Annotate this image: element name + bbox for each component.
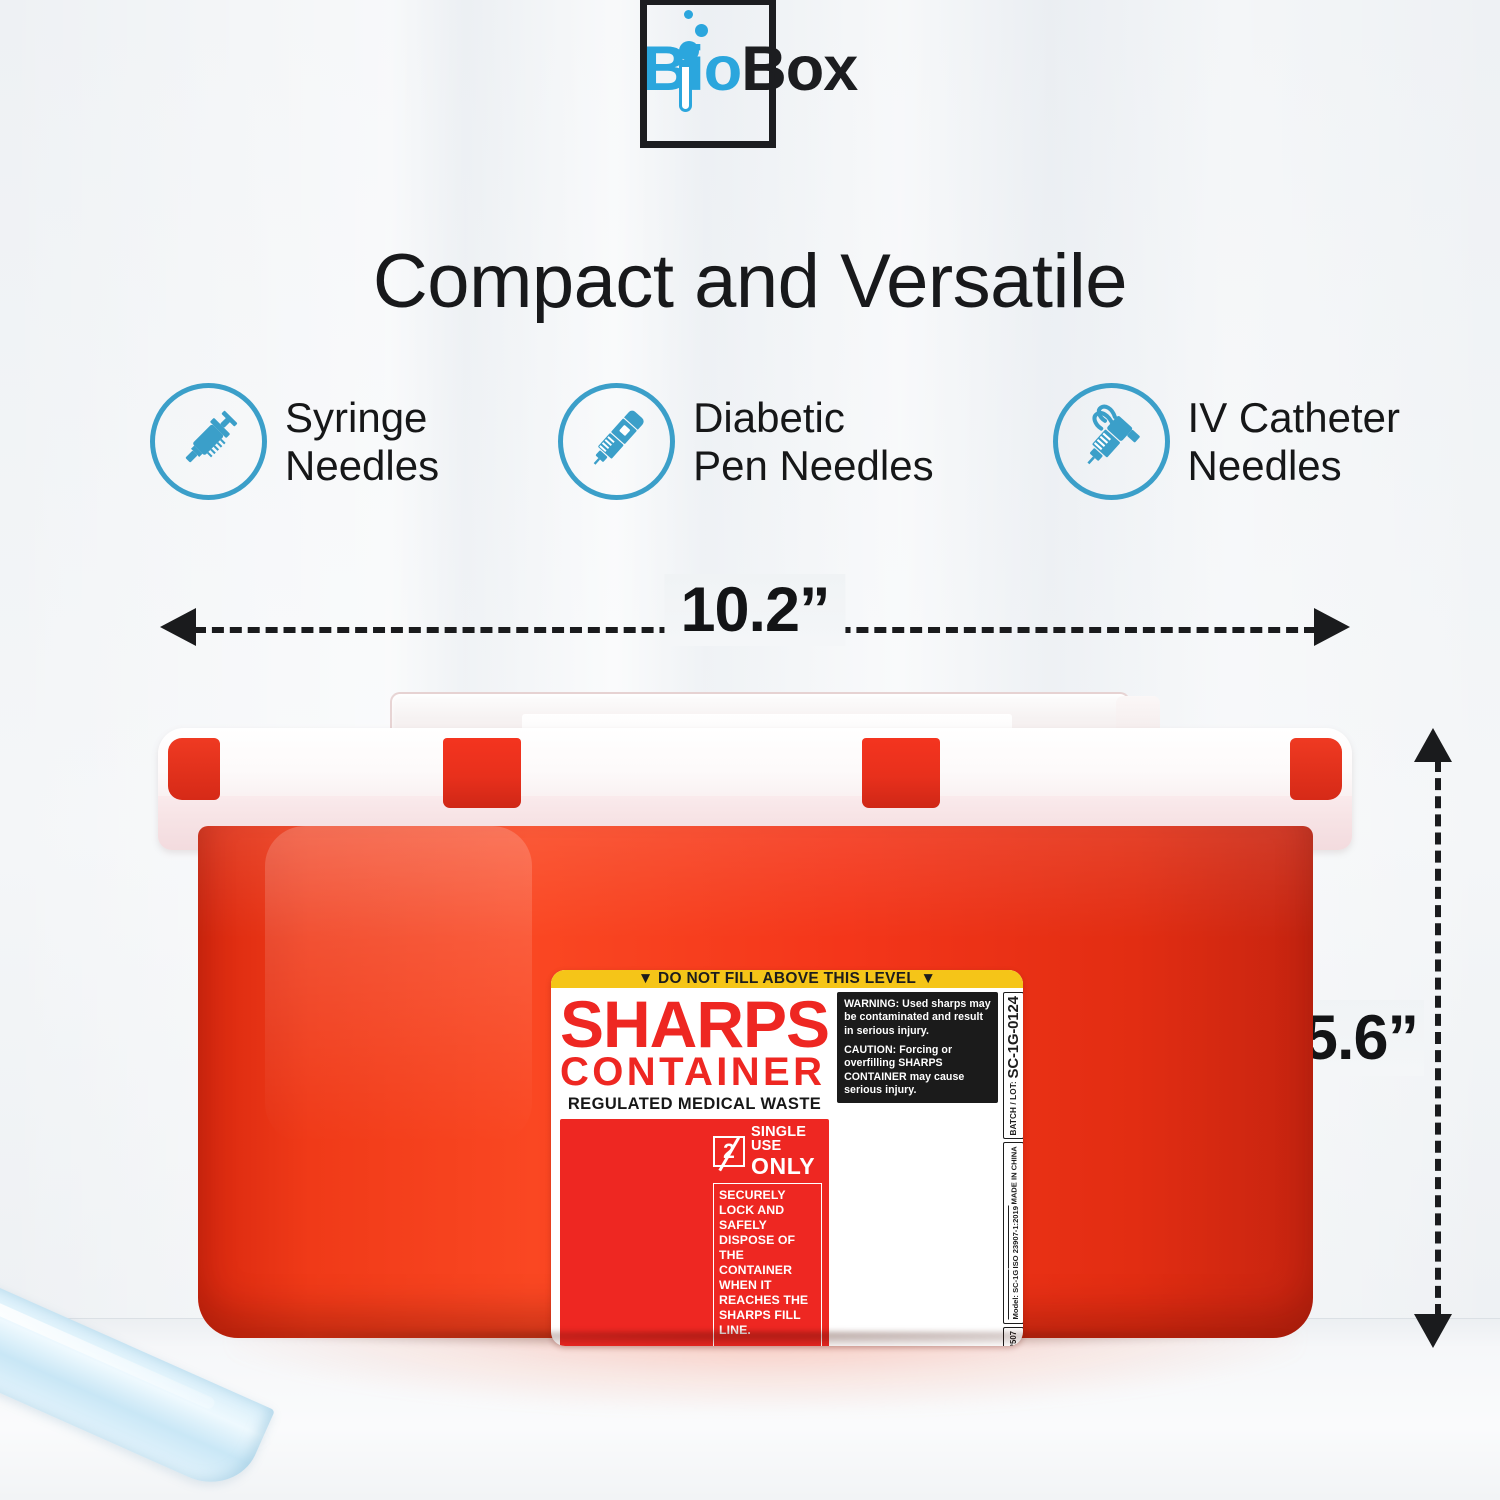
model-iso-box: Model: SC-1G ISO 23907-1:2019 MADE IN CH… <box>1003 1142 1023 1324</box>
diabetic-pen-needle-icon <box>580 402 654 481</box>
arrow-right-icon <box>1314 608 1350 646</box>
warning-caution-box: WARNING: Used sharps may be contaminated… <box>837 992 998 1103</box>
model-iso-rotated: Model: SC-1G ISO 23907-1:2019 MADE IN CH… <box>1008 1146 1020 1320</box>
feature-list: Syringe Needles <box>150 383 1400 500</box>
brand-logo: BioBox <box>0 38 1500 101</box>
logo-bubble-small <box>684 10 693 19</box>
arrow-left-icon <box>160 608 196 646</box>
lid-latch-left <box>443 738 521 808</box>
single-use-only-group: 2 SINGLE USE ONLY <box>713 1125 822 1178</box>
feature-item-syringe: Syringe Needles <box>150 383 439 500</box>
lid-latch-right <box>862 738 940 808</box>
iso-line: ISO 23907-1:2019 <box>1008 1206 1020 1268</box>
container-contact-shadow <box>210 1332 1300 1348</box>
syringe-needle-icon <box>172 402 246 481</box>
batch-lot-rotated: BATCH / LOT: SC-1G-0124 <box>1005 996 1022 1135</box>
warning-text: WARNING: Used sharps may be contaminated… <box>844 998 991 1038</box>
sharps-container-label: ▼ DO NOT FILL ABOVE THIS LEVEL ▼ SHARPS … <box>551 970 1023 1346</box>
iv-catheter-needle-icon <box>1073 401 1149 482</box>
batch-lot-caption: BATCH / LOT: <box>1009 1081 1018 1135</box>
logo-bubble-large <box>679 41 699 61</box>
biohazard-symbol-group: BIOHAZARD <box>567 1125 707 1346</box>
single-use-text: SINGLE USE ONLY <box>751 1125 822 1178</box>
sharps-container-product: ▼ DO NOT FILL ABOVE THIS LEVEL ▼ SHARPS … <box>150 686 1360 1346</box>
model-line: Model: SC-1G <box>1008 1270 1020 1320</box>
single-use-line1: SINGLE USE <box>751 1125 822 1154</box>
lid-latch-corner-right <box>1290 738 1342 800</box>
lid-latch-corner-left <box>168 738 220 800</box>
label-right-column: WARNING: Used sharps may be contaminated… <box>835 988 1003 1346</box>
logo-test-tube-icon <box>679 66 692 112</box>
label-vertical-info-column: BATCH / LOT: SC-1G-0124 Model: SC-1G ISO… <box>1003 988 1023 1346</box>
biohazard-right-column: 2 SINGLE USE ONLY SECURELY LOCK AND SAFE… <box>713 1125 822 1346</box>
body-highlight <box>265 826 533 1143</box>
container-body: ▼ DO NOT FILL ABOVE THIS LEVEL ▼ SHARPS … <box>198 826 1313 1338</box>
feature-label: Diabetic Pen Needles <box>693 394 934 488</box>
label-title-sharps: SHARPS <box>560 994 829 1055</box>
height-dimension-line: 5.6” <box>1408 728 1468 1348</box>
page-title: Compact and Versatile <box>0 238 1500 325</box>
biohazard-block: BIOHAZARD 2 SINGLE USE ONLY <box>560 1119 829 1346</box>
logo-tube-cap <box>679 60 698 67</box>
arrow-down-icon <box>1414 1314 1452 1348</box>
caution-text: CAUTION: Forcing or overfilling SHARPS C… <box>844 1044 991 1097</box>
feature-icon-circle <box>1053 383 1170 500</box>
feature-item-iv-catheter: IV Catheter Needles <box>1053 383 1400 500</box>
label-title-container: CONTAINER <box>560 1053 829 1091</box>
label-main-area: SHARPS CONTAINER REGULATED MEDICAL WASTE <box>551 988 1023 1346</box>
width-dimension-line: 10.2” <box>160 600 1350 660</box>
no-reuse-icon: 2 <box>713 1136 745 1167</box>
single-use-line2: ONLY <box>751 1155 822 1178</box>
logo-box-text: Box <box>741 38 857 101</box>
origin-line: MADE IN CHINA <box>1009 1146 1018 1204</box>
batch-lot-value: SC-1G-0124 <box>1005 996 1022 1078</box>
feature-item-diabetic-pen: Diabetic Pen Needles <box>558 383 934 500</box>
dashed-line <box>1435 760 1441 1316</box>
feature-icon-circle <box>558 383 675 500</box>
width-dimension-label: 10.2” <box>664 574 845 646</box>
batch-lot-box: BATCH / LOT: SC-1G-0124 <box>1003 992 1023 1139</box>
feature-label: Syringe Needles <box>285 394 439 488</box>
label-subtitle: REGULATED MEDICAL WASTE <box>560 1095 829 1114</box>
feature-icon-circle <box>150 383 267 500</box>
logo-bubble-medium <box>695 24 708 37</box>
secure-disposal-instructions: SECURELY LOCK AND SAFELY DISPOSE OF THE … <box>713 1183 822 1346</box>
feature-label: IV Catheter Needles <box>1188 394 1400 488</box>
fill-level-warning-band: ▼ DO NOT FILL ABOVE THIS LEVEL ▼ <box>551 970 1023 988</box>
label-left-column: SHARPS CONTAINER REGULATED MEDICAL WASTE <box>551 988 835 1346</box>
arrow-up-icon <box>1414 728 1452 762</box>
